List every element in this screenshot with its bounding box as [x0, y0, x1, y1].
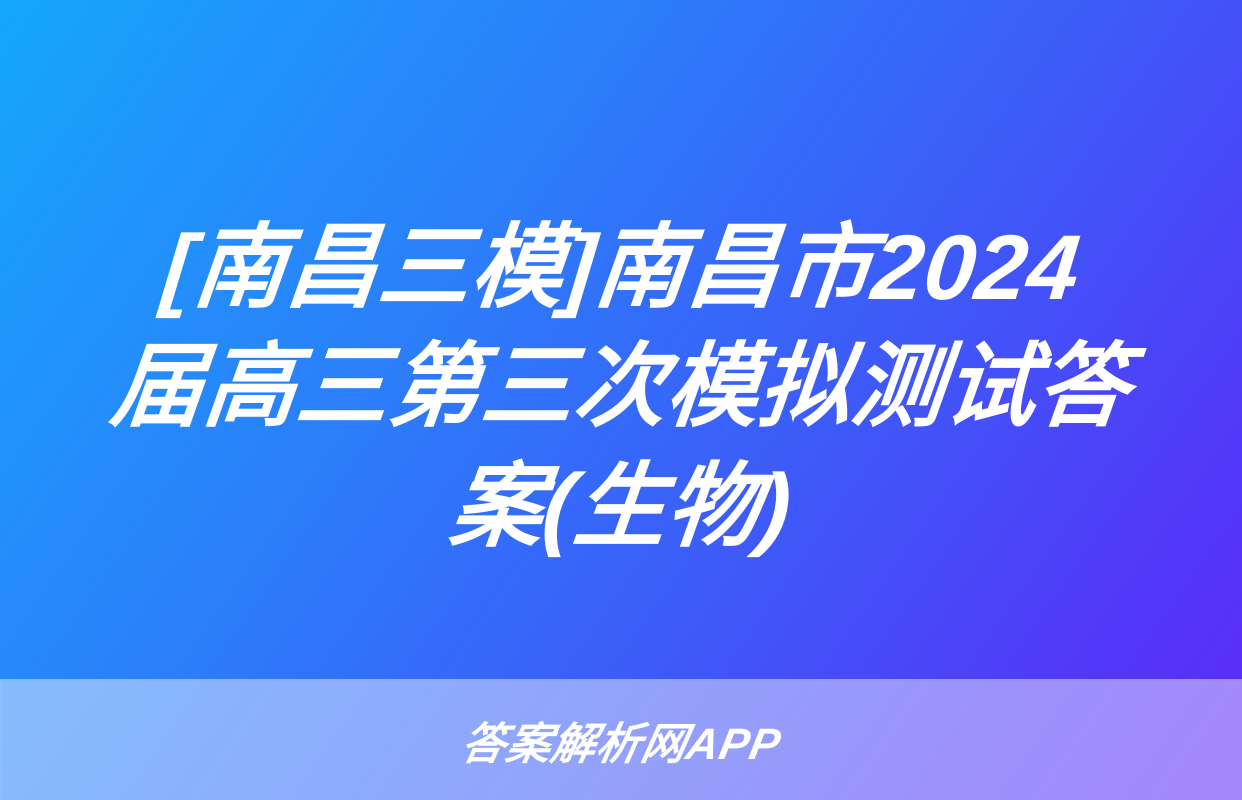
title-line-2: 届高三第三次模拟测试答	[106, 328, 1136, 448]
title-block: [南昌三模]南昌市2024 届高三第三次模拟测试答 案(生物)	[0, 168, 1242, 608]
footer-watermark-band: 答案解析网APP	[0, 679, 1242, 800]
title-line-1: [南昌三模]南昌市2024	[156, 209, 1085, 329]
watermark-label: 答案解析网APP	[457, 708, 788, 772]
promo-card: [南昌三模]南昌市2024 届高三第三次模拟测试答 案(生物) 答案解析网APP	[0, 0, 1242, 800]
title-line-3: 案(生物)	[445, 448, 797, 568]
